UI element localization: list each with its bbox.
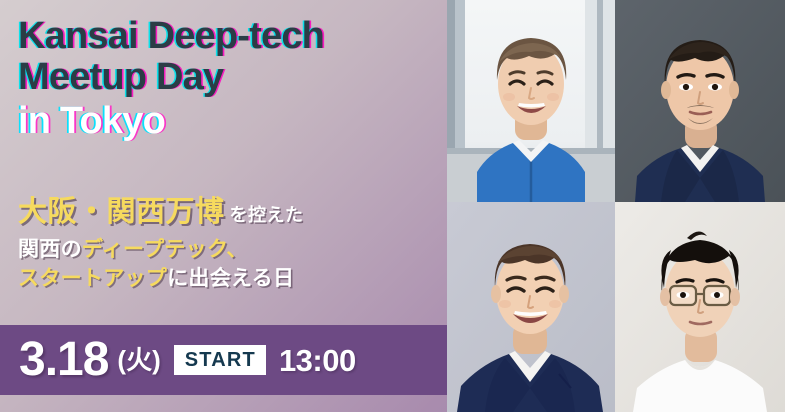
title-block: Kansai Deep-tech Meetup Day in Tokyo	[18, 16, 438, 142]
speaker-photo-grid	[447, 0, 785, 412]
subcopy-line-2-highlight: ディープテック、	[82, 238, 248, 261]
title-line-1: Kansai Deep-tech	[18, 16, 438, 57]
event-start-time: 13:00	[279, 345, 356, 376]
subcopy-line-1: 大阪・関西万博を控えた	[18, 196, 443, 228]
speaker-photo-bottom-right	[615, 202, 785, 412]
start-badge: START	[174, 345, 266, 375]
speaker-photo-bottom-left	[447, 202, 615, 412]
speaker-photo-top-right	[615, 0, 785, 202]
event-weekday: (火)	[117, 347, 160, 373]
subcopy-expo-highlight: 大阪・関西万博	[18, 196, 225, 228]
subcopy-line-2: 関西のディープテック、	[18, 238, 443, 262]
japanese-subcopy: 大阪・関西万博を控えた 関西のディープテック、 スタートアップに出会える日	[18, 196, 443, 295]
subcopy-line-3: スタートアップに出会える日	[18, 267, 443, 291]
date-band: 3.18 (火) START 13:00	[0, 325, 447, 395]
subcopy-expo-tail: を控えた	[230, 205, 304, 225]
subcopy-line-3-plain: に出会える日	[167, 267, 294, 290]
title-line-2: Meetup Day	[18, 57, 438, 98]
speaker-photo-top-left	[447, 0, 615, 202]
subcopy-line-2-plain: 関西の	[18, 238, 82, 261]
subcopy-line-3-highlight: スタートアップ	[18, 267, 167, 290]
title-accent-in-tokyo: in Tokyo	[18, 101, 438, 142]
event-date: 3.18	[19, 336, 108, 384]
date-band-inner: 3.18 (火) START 13:00	[0, 336, 356, 384]
event-banner: Kansai Deep-tech Meetup Day in Tokyo 大阪・…	[0, 0, 785, 412]
